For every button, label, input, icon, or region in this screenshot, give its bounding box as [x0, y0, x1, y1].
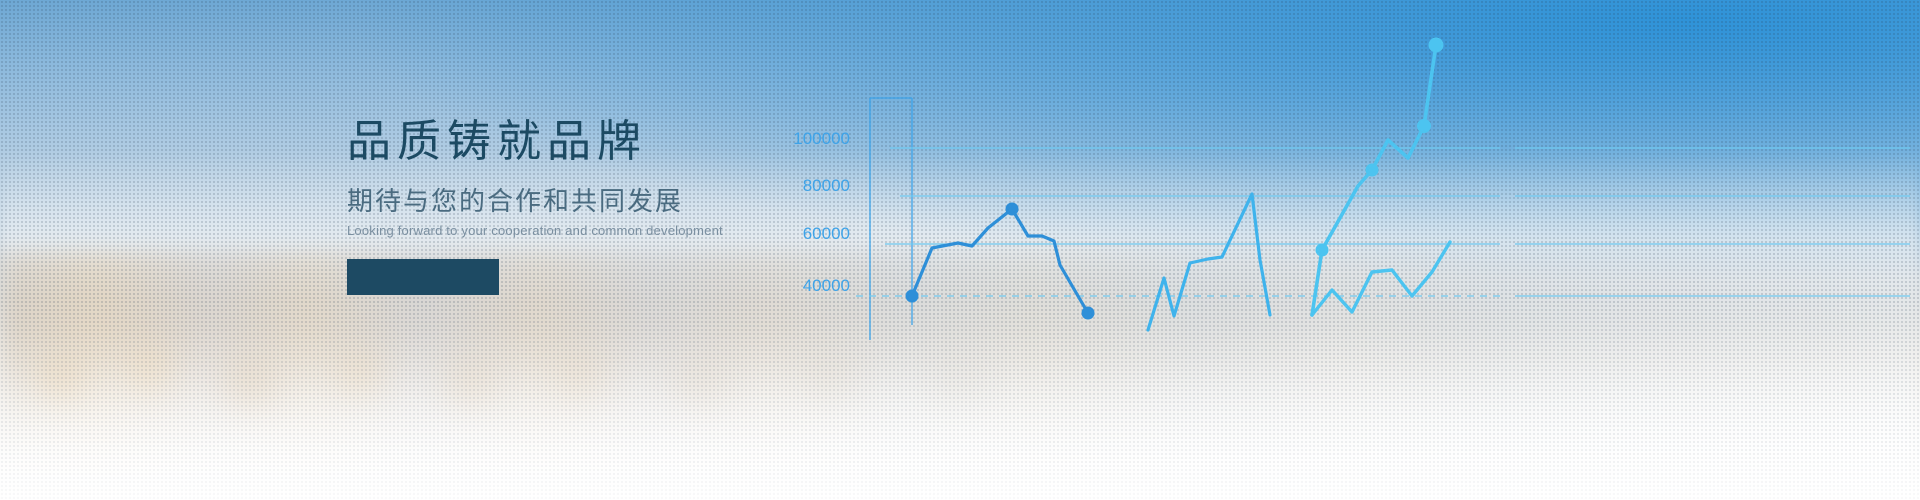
series-2-line	[1148, 194, 1270, 330]
line-chart: 100000 80000 60000 40000	[760, 0, 1920, 500]
series-1-marker-end	[1082, 307, 1095, 320]
y-tick-label-60000: 60000	[803, 224, 850, 243]
series-4-line	[1312, 242, 1450, 315]
y-tick-label-40000: 40000	[803, 276, 850, 295]
series-3-marker-3	[1417, 119, 1431, 133]
hero-banner: 品质铸就品牌 期待与您的合作和共同发展 Looking forward to y…	[0, 0, 1920, 500]
y-tick-label-100000: 100000	[793, 129, 850, 148]
series-3-marker-1	[1316, 244, 1329, 257]
chart-svg: 100000 80000 60000 40000	[760, 0, 1920, 500]
series-1-marker-peak	[1006, 203, 1019, 216]
cta-button[interactable]	[347, 259, 499, 295]
y-tick-label-80000: 80000	[803, 176, 850, 195]
series-3-line	[1312, 45, 1436, 315]
series-3-marker-2	[1366, 164, 1379, 177]
series-3-marker-end	[1429, 38, 1444, 53]
series-1-marker-start	[906, 290, 919, 303]
series-1-line	[912, 209, 1088, 313]
